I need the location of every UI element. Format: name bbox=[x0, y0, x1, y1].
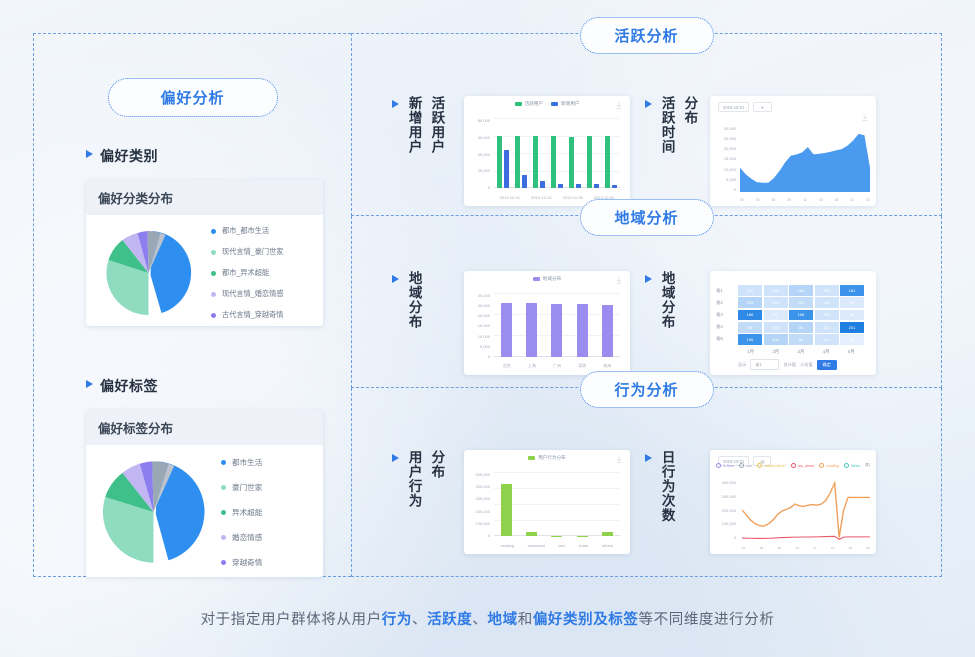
x-axis-ticks: 01 05 09 13 17 21 25 30 bbox=[742, 546, 870, 550]
y-axis-ticks: 500,000 400,000 300,000 200,000 100,000 … bbox=[468, 472, 490, 538]
plot-area bbox=[740, 126, 870, 192]
item-label-active-time: 活跃时间 分布 bbox=[645, 96, 697, 154]
region-select[interactable]: 省1 bbox=[750, 359, 779, 370]
plot-area bbox=[494, 472, 620, 536]
heatmap-cell[interactable]: 136 bbox=[815, 310, 839, 321]
triangle-bullet-icon bbox=[392, 275, 399, 283]
confirm-button[interactable]: 确定 bbox=[817, 360, 837, 370]
group-label-text: 偏好标签 bbox=[100, 376, 158, 396]
legend-item: 异术超能 bbox=[221, 507, 262, 518]
line-svg bbox=[742, 480, 870, 540]
legend-item: 活跃用户 bbox=[515, 101, 543, 107]
x-axis-ticks: 北京 上海 广州 深圳 杭州 bbox=[494, 363, 620, 369]
legend-item: my_show bbox=[791, 463, 814, 468]
chart-region-distribution-bar: 地域分布 30,000 25,000 20,000 15,000 10,000 … bbox=[464, 271, 630, 375]
control-label: 显示 bbox=[738, 362, 746, 368]
item-label-new-active-users: 新增用户 活跃用户 bbox=[392, 96, 444, 154]
plot-area bbox=[742, 480, 870, 540]
card-preference-tag-pie: 偏好标签分布 都 bbox=[86, 410, 323, 577]
right-column: 活跃分析 新增用户 活跃用户 活跃用户 新增用户 80,000 60,000 4… bbox=[351, 33, 942, 577]
item-label-daily-behavior-count: 日行为次数 bbox=[645, 450, 675, 523]
legend-item: 地域分布 bbox=[533, 276, 561, 282]
legend-item: 豪门世家 bbox=[221, 482, 262, 493]
bars bbox=[494, 293, 620, 357]
heatmap-cell[interactable]: 146 bbox=[764, 297, 788, 308]
item-label-user-behavior: 用户行为 分布 bbox=[392, 450, 444, 508]
heatmap-cell[interactable]: 94 bbox=[789, 334, 813, 345]
triangle-bullet-icon bbox=[86, 380, 93, 388]
chart-legend: 用户行为分布 bbox=[464, 455, 630, 461]
heatmap-controls: 显示 省1 合计值 人均值 确定 bbox=[738, 359, 837, 370]
triangle-bullet-icon bbox=[86, 150, 93, 158]
card-title: 偏好标签分布 bbox=[86, 410, 323, 445]
pie-svg bbox=[96, 453, 211, 571]
download-icon[interactable] bbox=[616, 102, 622, 109]
section-active: 活跃分析 新增用户 活跃用户 活跃用户 新增用户 80,000 60,000 4… bbox=[351, 33, 942, 216]
heatmap-cell[interactable]: 164 bbox=[738, 297, 762, 308]
card-body: 都市生活 豪门世家 异术超能 婚恋情感 穿越奇情 bbox=[86, 445, 323, 577]
plot-area bbox=[494, 293, 620, 357]
chart-region-heatmap: 省1 省2 省3 省4 省5 141 136 164 136 181 164 1… bbox=[710, 271, 876, 375]
legend-item: 都市生活 bbox=[221, 457, 262, 468]
legend-item: 都市_异术超能 bbox=[211, 268, 284, 278]
item-label-region-dist-2: 地域分布 bbox=[645, 271, 675, 329]
chart-user-behavior-bar: 用户行为分布 500,000 400,000 300,000 200,000 1… bbox=[464, 450, 630, 554]
item-label-text: 新增用户 bbox=[406, 96, 422, 154]
y-axis-ticks: 30,000 25,000 20,000 15,000 10,000 5,000… bbox=[468, 293, 490, 359]
item-label-text-2: 分布 bbox=[682, 96, 698, 125]
card-title: 偏好分类分布 bbox=[86, 180, 323, 215]
section-title-region: 地域分析 bbox=[579, 199, 713, 236]
pie-legend-preference-category: 都市_都市生活 现代言情_豪门世家 都市_异术超能 现代言情_婚恋情感 古代言情… bbox=[207, 226, 284, 320]
item-label-text: 活跃时间 bbox=[659, 96, 675, 154]
heatmap-cell[interactable]: 106 bbox=[764, 322, 788, 333]
item-label-text: 地域分布 bbox=[406, 271, 422, 329]
chart-legend: 地域分布 bbox=[464, 276, 630, 282]
section-preference: 偏好分析 偏好类别 偏好分类分布 bbox=[33, 33, 351, 577]
group-label-text: 偏好类别 bbox=[100, 146, 158, 166]
triangle-bullet-icon bbox=[645, 275, 652, 283]
chart-legend: 1-5ms cart add2collect? my_show reading … bbox=[716, 463, 870, 468]
bars bbox=[494, 472, 620, 536]
heatmap-cell[interactable]: 92 bbox=[764, 310, 788, 321]
legend-item: add2collect? bbox=[757, 463, 786, 468]
heatmap-x-labels: 1月 2月 3月 4月 5月 bbox=[738, 349, 864, 355]
item-label-text: 用户行为 bbox=[406, 450, 422, 508]
item-label-text-2: 活跃用户 bbox=[429, 96, 445, 154]
heatmap-cell[interactable]: 168 bbox=[789, 310, 813, 321]
legend-item: 现代言情_婚恋情感 bbox=[211, 289, 284, 299]
legend-item: 现代言情_豪门世家 bbox=[211, 247, 284, 257]
triangle-bullet-icon bbox=[645, 454, 652, 462]
heatmap-cell[interactable]: 164 bbox=[789, 285, 813, 296]
heatmap-cell[interactable]: 66 bbox=[840, 334, 864, 345]
legend-item: listen bbox=[844, 463, 860, 468]
diagram-board: 偏好分析 偏好类别 偏好分类分布 bbox=[33, 33, 942, 577]
download-icon[interactable] bbox=[616, 456, 622, 463]
item-label-text: 地域分布 bbox=[659, 271, 675, 329]
section-title-active: 活跃分析 bbox=[579, 17, 713, 54]
caption-part: 等不同维度进行分析 bbox=[639, 612, 775, 628]
heatmap-cell[interactable]: 201 bbox=[840, 322, 864, 333]
pie-legend-preference-tag: 都市生活 豪门世家 异术超能 婚恋情感 穿越奇情 bbox=[217, 457, 262, 568]
triangle-bullet-icon bbox=[392, 454, 399, 462]
triangle-bullet-icon bbox=[645, 100, 652, 108]
legend-item: 用户行为分布 bbox=[528, 455, 566, 461]
item-label-text-2: 分布 bbox=[429, 450, 445, 479]
date-filter-chip[interactable]: 2019-10-01 ▾ bbox=[718, 102, 772, 112]
y-axis-ticks: 400,000 300,000 200,000 100,000 0 bbox=[714, 480, 736, 540]
pie-svg bbox=[96, 223, 201, 323]
heatmap-cell[interactable]: 181 bbox=[840, 285, 864, 296]
legend-item: cart bbox=[739, 463, 753, 468]
heatmap-cell[interactable]: 86 bbox=[789, 322, 813, 333]
section-behavior: 行为分析 用户行为 分布 用户行为分布 500,000 400,000 300,… bbox=[351, 388, 942, 577]
card-body: 都市_都市生活 现代言情_豪门世家 都市_异术超能 现代言情_婚恋情感 古代言情… bbox=[86, 215, 323, 326]
pie-chart-preference-tag: 都市生活 豪门世家 异术超能 婚恋情感 穿越奇情 bbox=[96, 453, 313, 571]
item-label-region-dist-1: 地域分布 bbox=[392, 271, 422, 329]
caption-highlight: 活跃度 bbox=[427, 612, 472, 628]
download-icon[interactable] bbox=[862, 114, 868, 121]
metric-select[interactable]: 人均值 bbox=[800, 362, 813, 368]
y-axis-ticks: 30,000 25,000 20,000 15,000 10,000 5,000… bbox=[714, 126, 736, 192]
chart-new-vs-active-users: 活跃用户 新增用户 80,000 60,000 40,000 20,000 0 bbox=[464, 96, 630, 206]
group-label-preference-category: 偏好类别 bbox=[86, 146, 158, 166]
triangle-bullet-icon bbox=[392, 100, 399, 108]
chart-daily-behavior-line: 2019-10-01 ▤ 1-5ms cart add2collect? my_… bbox=[710, 450, 876, 554]
legend-item: 新增用户 bbox=[551, 101, 579, 107]
heatmap-cell[interactable]: 186 bbox=[738, 310, 762, 321]
heatmap-grid: 141 136 164 136 181 164 146 151 134 95 1… bbox=[738, 285, 864, 345]
legend-item: 1-5ms bbox=[716, 463, 734, 468]
legend-item: 穿越奇情 bbox=[221, 557, 262, 568]
plot-area bbox=[494, 118, 620, 188]
chip-arrow-icon[interactable]: ▾ bbox=[753, 102, 771, 112]
heatmap-cell[interactable]: 105 bbox=[764, 334, 788, 345]
bars bbox=[494, 118, 620, 188]
area-svg bbox=[740, 126, 870, 192]
pie-chart-preference-category: 都市_都市生活 现代言情_豪门世家 都市_异术超能 现代言情_婚恋情感 古代言情… bbox=[96, 223, 313, 323]
legend-item: 古代言情_穿越奇情 bbox=[211, 310, 284, 320]
x-axis-ticks: reading download cart share others bbox=[494, 543, 620, 548]
caption-highlight: 地域 bbox=[488, 612, 518, 628]
item-label-text: 日行为次数 bbox=[659, 450, 675, 523]
control-label-2: 合计值 bbox=[783, 362, 796, 368]
footer-caption: 对于指定用户群体将从用户行为、活跃度、地域和偏好类别及标签等不同维度进行分析 bbox=[0, 608, 975, 629]
chart-legend: 活跃用户 新增用户 bbox=[464, 101, 630, 107]
heatmap-cell[interactable]: 136 bbox=[764, 285, 788, 296]
heatmap-cell[interactable]: 151 bbox=[789, 297, 813, 308]
heatmap-cell[interactable]: 136 bbox=[815, 285, 839, 296]
caption-part: 、 bbox=[472, 612, 487, 628]
heatmap-cell[interactable]: 141 bbox=[738, 285, 762, 296]
chart-active-time-distribution: 2019-10-01 ▾ 30,000 25,000 20,000 15,000… bbox=[710, 96, 876, 206]
heatmap-cell[interactable]: 96 bbox=[738, 322, 762, 333]
caption-part: 和 bbox=[518, 612, 533, 628]
heatmap-cell[interactable]: 134 bbox=[815, 297, 839, 308]
group-label-preference-tag: 偏好标签 bbox=[86, 376, 158, 396]
caption-highlight: 偏好类别及标签 bbox=[533, 612, 639, 628]
card-preference-category-pie: 偏好分类分布 都 bbox=[86, 180, 323, 326]
x-axis-ticks: 00 03 06 09 12 15 18 21 23 bbox=[740, 198, 870, 202]
heatmap-cell[interactable]: 147 bbox=[815, 334, 839, 345]
section-region: 地域分析 地域分布 地域分布 30,000 25,000 20,000 15,0… bbox=[351, 216, 942, 388]
section-title-behavior: 行为分析 bbox=[579, 371, 713, 408]
y-axis-ticks: 80,000 60,000 40,000 20,000 0 bbox=[468, 118, 490, 190]
section-title-preference: 偏好分析 bbox=[107, 78, 277, 117]
heatmap-cell[interactable]: 104 bbox=[815, 322, 839, 333]
heatmap-cell[interactable]: 95 bbox=[840, 297, 864, 308]
legend-item: reading bbox=[819, 463, 839, 468]
legend-item: 都市_都市生活 bbox=[211, 226, 284, 236]
caption-highlight: 行为 bbox=[382, 612, 412, 628]
heatmap-y-labels: 省1 省2 省3 省4 省5 bbox=[716, 285, 723, 345]
heatmap-cell[interactable]: 62 bbox=[840, 310, 864, 321]
legend-item: 其他 bbox=[865, 463, 870, 468]
caption-part: 对于指定用户群体将从用户 bbox=[201, 612, 382, 628]
heatmap-cell[interactable]: 196 bbox=[738, 334, 762, 345]
legend-item: 婚恋情感 bbox=[221, 532, 262, 543]
caption-part: 、 bbox=[412, 612, 427, 628]
download-icon[interactable] bbox=[616, 277, 622, 284]
